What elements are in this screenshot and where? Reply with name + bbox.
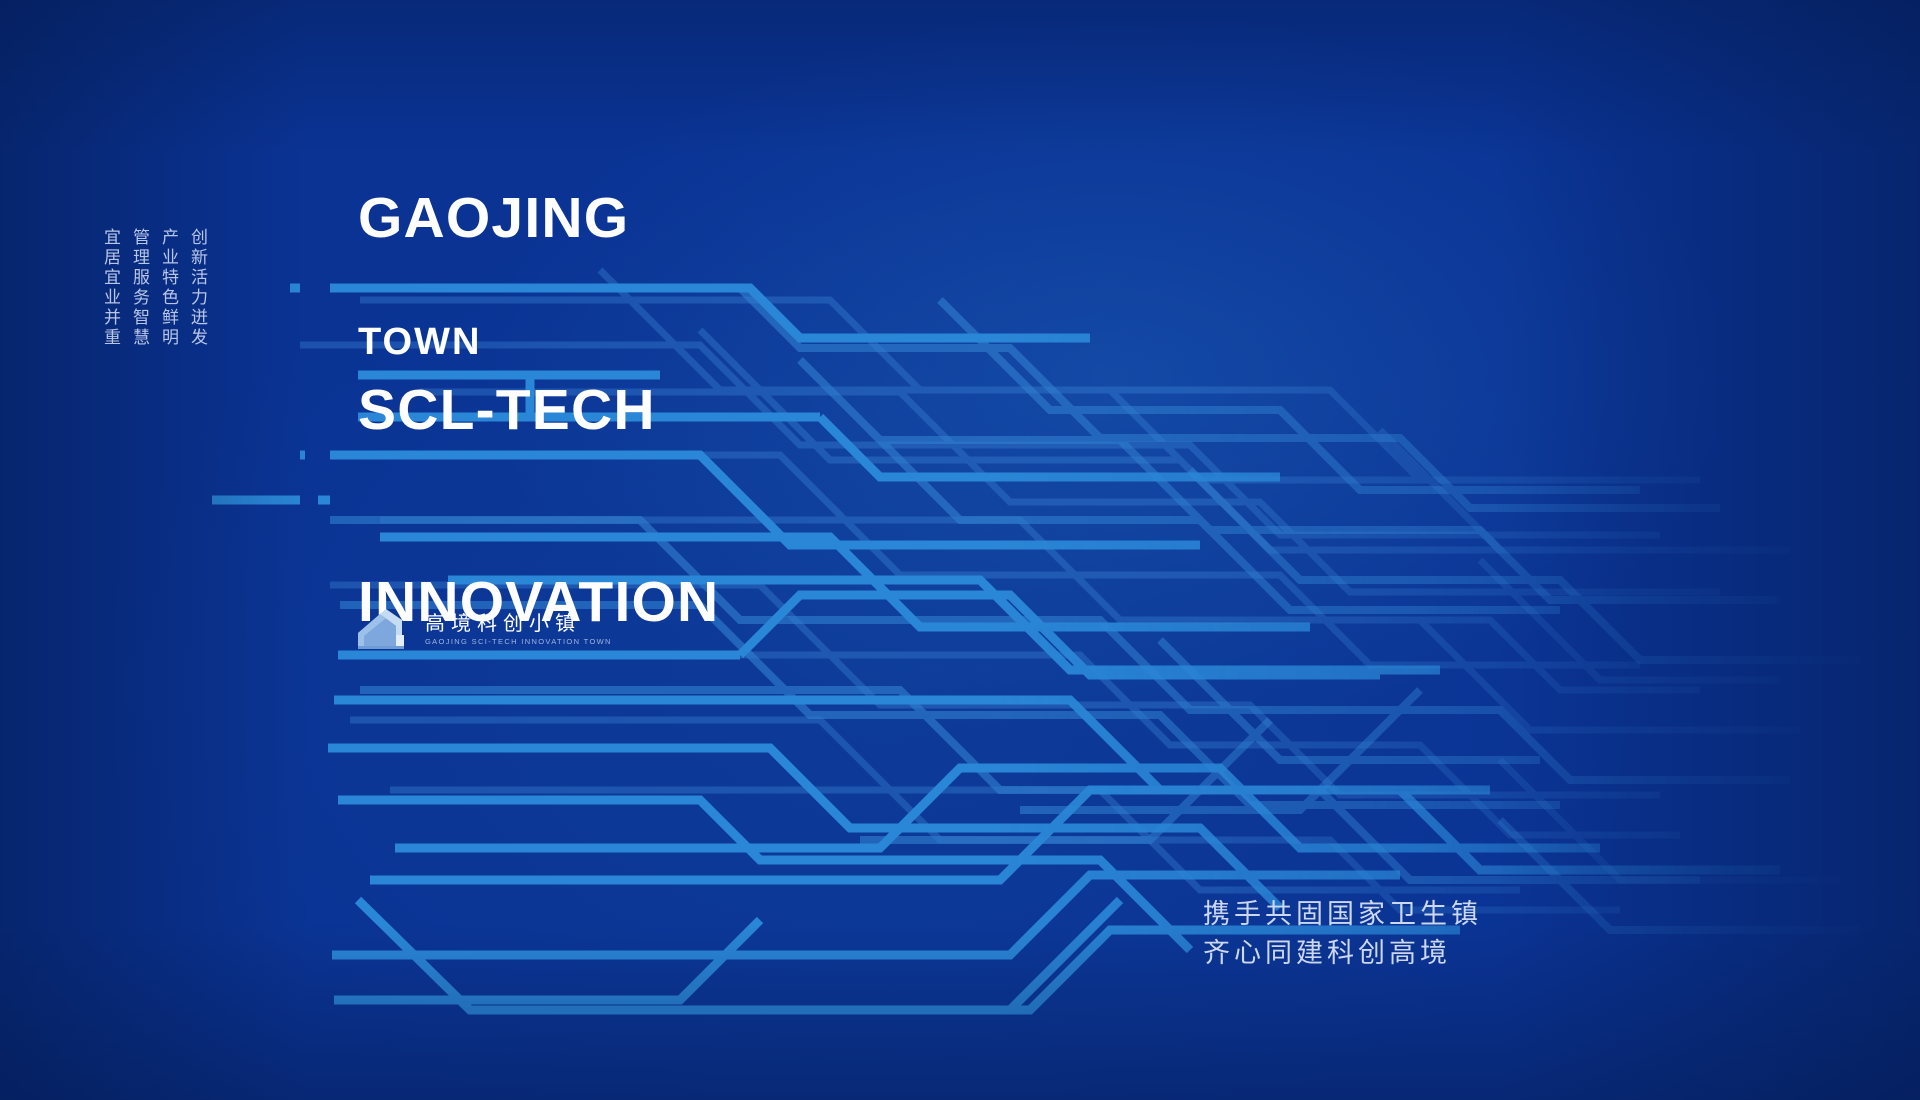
vertical-slogan: 创新活力迸发 产业特色鲜明 管理服务智慧 宜居宜业并重 [100,228,206,348]
vertical-slogan-column-2: 产业特色鲜明 [158,228,177,348]
corner-slogan-line-1: 携手共固国家卫生镇 [1203,895,1482,934]
vertical-slogan-column-3: 管理服务智慧 [129,228,148,348]
headline-town-word: TOWN [358,322,481,362]
brand-name-cn: 高境科创小镇 [425,613,612,634]
corner-slogan-line-2: 齐心同建科创高境 [1203,934,1482,973]
poster-canvas: 创新活力迸发 产业特色鲜明 管理服务智慧 宜居宜业并重 GAOJING SCL-… [0,0,1920,1100]
corner-slogan: 携手共固国家卫生镇 齐心同建科创高境 [1203,895,1482,973]
circuit-trace-artwork [0,0,1920,1100]
page-title: GAOJING SCL-TECH INNOVATION [358,58,719,762]
headline-line-1: GAOJING [358,186,719,250]
brand-name-en: GAOJING SCI-TECH INNOVATION TOWN [425,637,612,646]
vertical-slogan-column-4: 宜居宜业并重 [100,228,119,348]
vertical-slogan-column-1: 创新活力迸发 [187,228,206,348]
headline-line-2: SCL-TECH [358,378,719,442]
house-icon [356,608,414,650]
brand-logo: 高境科创小镇 GAOJING SCI-TECH INNOVATION TOWN [356,608,612,650]
brand-logo-text: 高境科创小镇 GAOJING SCI-TECH INNOVATION TOWN [425,613,612,646]
